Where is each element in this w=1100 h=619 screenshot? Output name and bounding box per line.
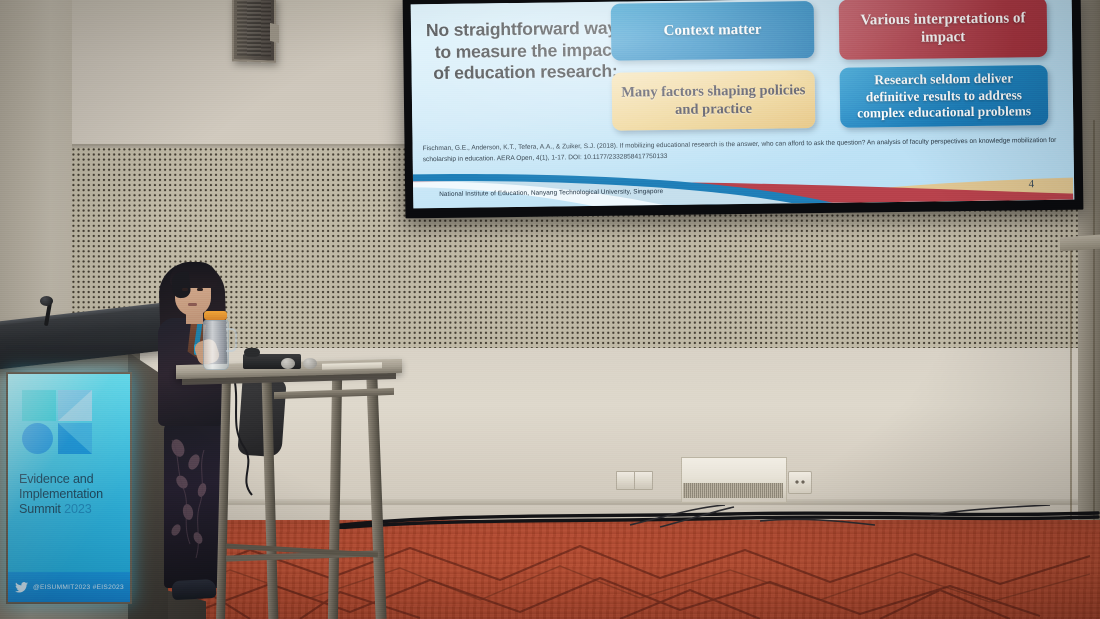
- presentation-slide: No straightforward way to measure the im…: [411, 0, 1075, 208]
- event-banner-display: Evidence and Implementation Summit 2023 …: [6, 372, 132, 604]
- light-switch[interactable]: [634, 471, 653, 490]
- cable-brush-grommet: [683, 483, 783, 498]
- presentation-clicker[interactable]: [303, 358, 317, 369]
- slide-footer-decoration: National Institute of Education, Nanyang…: [413, 164, 1074, 209]
- wall-seam: [1093, 120, 1095, 540]
- slide-box-context-matter: Context matter: [611, 1, 815, 61]
- projection-screen: No straightforward way to measure the im…: [403, 0, 1084, 218]
- slide-box-various-interpretations: Various interpretations of impact: [839, 0, 1048, 60]
- light-switch[interactable]: [616, 471, 635, 490]
- slide-box-many-factors: Many factors shaping policies and practi…: [612, 70, 816, 131]
- water-jug-lid: [204, 311, 227, 320]
- mouse-icon[interactable]: [244, 348, 260, 357]
- wall-seam: [1070, 250, 1072, 540]
- presenter-eye: [197, 288, 203, 291]
- slide-page-number: 4: [1029, 178, 1035, 190]
- slide-citation: Fischman, G.E., Anderson, K.T., Tefera, …: [423, 136, 1068, 166]
- banner-screen-glare: [8, 374, 130, 602]
- left-wall-panel: [0, 0, 72, 360]
- floor-cable-bundle: [330, 505, 1100, 529]
- slide-box-research-seldom-deliver: Research seldom deliver definitive resul…: [840, 65, 1049, 128]
- door-frame-edge: [1060, 235, 1100, 252]
- conference-room-photo: No straightforward way to measure the im…: [0, 0, 1100, 619]
- speaker-mount: [270, 23, 279, 43]
- slide-footer-curves: [413, 164, 1073, 209]
- presenter-dress-pattern: [164, 420, 222, 588]
- projection-screen-surface: No straightforward way to measure the im…: [411, 0, 1075, 208]
- presentation-clicker[interactable]: [281, 358, 295, 369]
- presenter-shoe: [172, 579, 217, 600]
- presenter-eye: [182, 288, 188, 291]
- microphone-icon: [40, 296, 53, 306]
- water-jug-handle: [226, 328, 237, 352]
- presenter-mouth: [188, 303, 197, 306]
- presenter-hair-fringe: [171, 271, 192, 299]
- power-socket-icon[interactable]: [788, 471, 812, 494]
- slide-title: No straightforward way to measure the im…: [421, 18, 618, 85]
